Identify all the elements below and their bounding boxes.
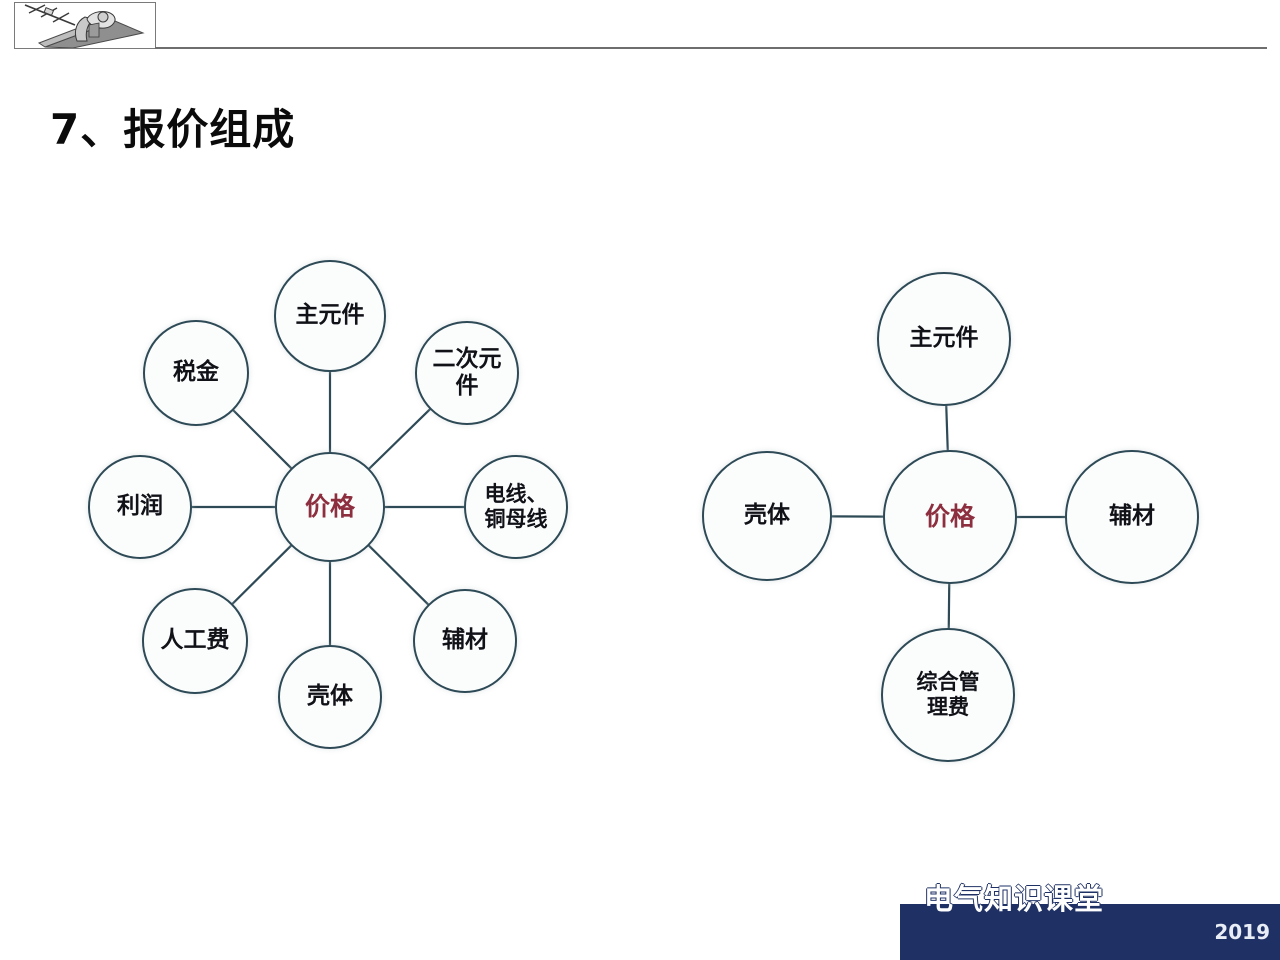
diagram-node: 主元件 — [274, 260, 386, 372]
diagram-node-label: 价格 — [919, 502, 981, 532]
diagram-node-label: 综合管 理费 — [911, 670, 986, 720]
page-title: 7、报价组成 — [50, 96, 295, 157]
diagram-node-label: 壳体 — [738, 502, 796, 529]
diagram-node-label: 辅材 — [436, 627, 494, 654]
diagram-node-label: 价格 — [299, 492, 361, 522]
connector-line — [369, 409, 431, 470]
header-divider-rule — [155, 47, 1267, 49]
diagram-node-label: 辅材 — [1103, 503, 1161, 530]
diagram-node: 壳体 — [702, 451, 832, 581]
watermark: 电气知识课堂 2019 — [900, 872, 1280, 960]
connector-line — [232, 545, 292, 604]
diagram-center-node: 价格 — [883, 450, 1017, 584]
diagram-price-composition-simple: 主元件辅材综合管 理费壳体价格 — [680, 240, 1240, 800]
diagram-node: 综合管 理费 — [881, 628, 1015, 762]
diagram-node-label: 税金 — [167, 359, 225, 386]
diagram-node: 辅材 — [1065, 450, 1199, 584]
worker-on-roof-illustration-icon — [14, 2, 156, 49]
connector-line — [368, 545, 428, 605]
diagram-node: 电线、 铜母线 — [464, 455, 568, 559]
diagram-node: 二次元件 — [415, 321, 519, 425]
connector-line — [949, 583, 950, 629]
diagram-node: 利润 — [88, 455, 192, 559]
diagram-node: 辅材 — [413, 589, 517, 693]
diagram-node-label: 壳体 — [301, 683, 359, 710]
slide-header: 7、报价组成 — [0, 0, 1280, 175]
diagram-node: 主元件 — [877, 272, 1011, 406]
diagram-price-composition-detailed: 主元件二次元件电线、 铜母线辅材壳体人工费利润税金价格 — [60, 230, 620, 790]
diagram-node-label: 电线、 铜母线 — [479, 482, 554, 532]
diagram-node: 税金 — [143, 320, 249, 426]
diagram-node-label: 人工费 — [155, 627, 236, 654]
diagram-node: 壳体 — [278, 645, 382, 749]
watermark-text: 电气知识课堂 — [924, 876, 1104, 918]
watermark-year: 2019 — [1214, 920, 1270, 944]
diagram-node-label: 主元件 — [904, 325, 985, 352]
diagram-center-node: 价格 — [275, 452, 385, 562]
connector-line — [946, 405, 948, 451]
diagram-node: 人工费 — [142, 588, 248, 694]
diagram-node-label: 二次元件 — [417, 346, 517, 400]
connector-line — [233, 410, 292, 469]
diagram-node-label: 利润 — [111, 493, 169, 520]
diagram-node-label: 主元件 — [290, 302, 371, 329]
